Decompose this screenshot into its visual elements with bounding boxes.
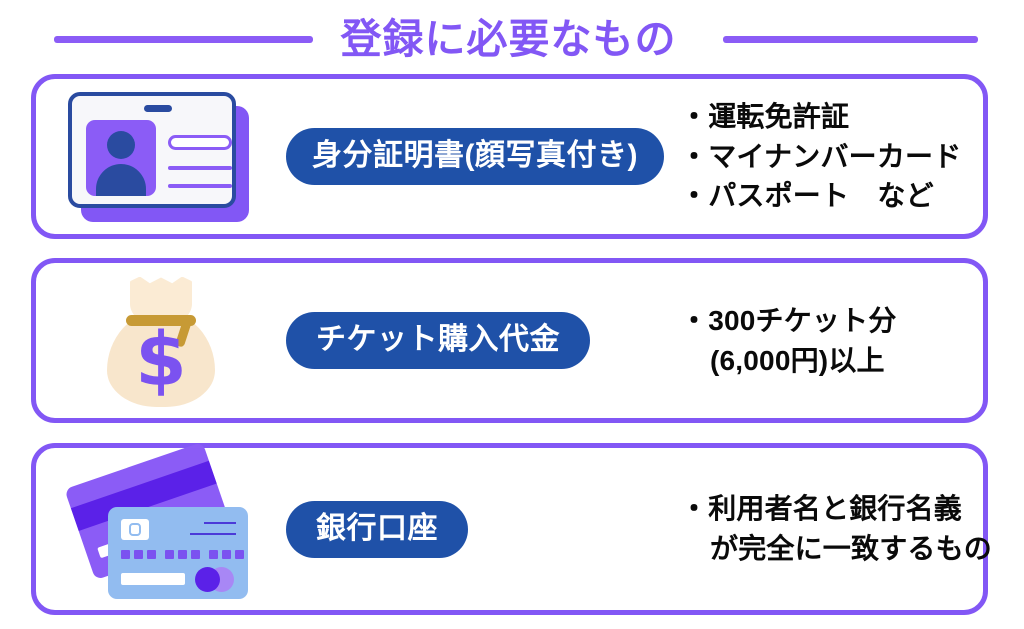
dot-icon (235, 550, 244, 559)
dot-group (165, 550, 200, 559)
dot-icon (165, 550, 174, 559)
list-item: ・マイナンバーカード (680, 137, 983, 177)
page-title: 登録に必要なもの (341, 19, 677, 60)
requirement-card-ticket-payment: $ チケット購入代金 ・300チケット分 (6,000円)以上 (31, 258, 988, 423)
list-item: (6,000円)以上 (680, 341, 983, 381)
dot-icon (121, 550, 130, 559)
avatar-body-icon (96, 164, 146, 196)
bank-card-icon (66, 459, 256, 599)
title-rule-left-icon (54, 36, 313, 43)
list-item: ・利用者名と銀行名義 (680, 489, 992, 529)
card-label-bank-account: 銀行口座 (286, 501, 468, 558)
bank-card-number-dots-icon (121, 550, 244, 559)
id-card-front-layer (68, 92, 236, 208)
page-header: 登録に必要なもの (0, 8, 1024, 70)
bank-card-line-1-icon (204, 522, 236, 524)
dot-icon (134, 550, 143, 559)
card-label-ticket-payment: チケット購入代金 (286, 312, 590, 369)
icon-slot-identification (36, 79, 286, 234)
requirement-card-bank-account: 銀行口座 ・利用者名と銀行名義 が完全に一致するもの (31, 443, 988, 615)
label-slot-bank-account: 銀行口座 (286, 501, 676, 558)
label-slot-ticket-payment: チケット購入代金 (286, 312, 676, 369)
list-item: ・運転免許証 (680, 97, 983, 137)
id-card-notch-icon (144, 105, 172, 112)
bank-card-line-2-icon (190, 533, 236, 535)
dot-icon (209, 550, 218, 559)
description-list-ticket-payment: ・300チケット分 (6,000円)以上 (676, 301, 983, 381)
dot-icon (191, 550, 200, 559)
id-card-photo-icon (86, 120, 156, 196)
dollar-sign-icon: $ (99, 323, 223, 397)
bank-card-logo-circle-front-icon (195, 567, 220, 592)
bank-card-white-stripe-icon (121, 573, 185, 585)
requirement-card-identification: 身分証明書(顔写真付き) ・運転免許証 ・マイナンバーカード ・パスポート など (31, 74, 988, 239)
id-card-line-2-icon (168, 184, 232, 188)
icon-slot-ticket-payment: $ (36, 263, 286, 418)
list-item: ・パスポート など (680, 176, 983, 216)
dot-group (121, 550, 156, 559)
list-item: ・300チケット分 (680, 301, 983, 341)
dot-icon (178, 550, 187, 559)
dot-icon (222, 550, 231, 559)
avatar-head-icon (107, 131, 135, 159)
money-bag-icon: $ (99, 275, 223, 407)
dot-group (209, 550, 244, 559)
description-list-identification: ・運転免許証 ・マイナンバーカード ・パスポート など (676, 97, 983, 216)
list-item: が完全に一致するもの (680, 529, 992, 569)
description-list-bank-account: ・利用者名と銀行名義 が完全に一致するもの (676, 489, 992, 569)
bank-card-front-layer (108, 507, 248, 599)
id-card-name-field-icon (168, 135, 232, 150)
dot-icon (147, 550, 156, 559)
id-card-icon (68, 92, 254, 222)
label-slot-identification: 身分証明書(顔写真付き) (286, 128, 676, 185)
card-label-identification: 身分証明書(顔写真付き) (286, 128, 664, 185)
id-card-line-1-icon (168, 166, 232, 170)
icon-slot-bank-account (36, 448, 286, 610)
chip-icon (121, 519, 149, 540)
title-rule-right-icon (723, 36, 978, 43)
